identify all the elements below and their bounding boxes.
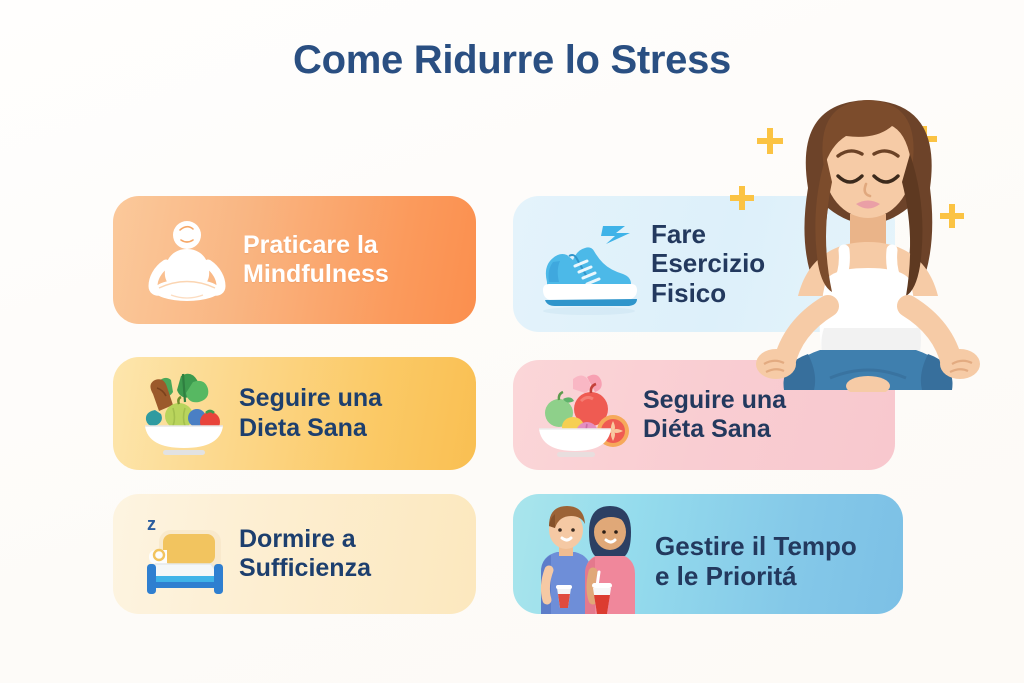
page-title: Come Ridurre lo Stress (0, 38, 1024, 83)
running-shoe-icon (529, 212, 647, 316)
sparkle-icon (940, 204, 964, 228)
sparkle-icon (911, 126, 937, 152)
card-mindfulness-label: Praticare la Mindfulness (243, 231, 389, 290)
infographic-canvas: Come Ridurre lo Stress Praticare la Mind… (0, 0, 1024, 683)
meditating-person-icon (133, 206, 241, 314)
card-time-label: Gestire il Tempo e le Prioritá (655, 531, 857, 592)
card-diet-left[interactable]: Seguire una Dieta Sana (113, 357, 476, 470)
vegetable-bowl-icon (131, 366, 235, 462)
card-exercise-label: Fare Esercizio Fisico (651, 220, 765, 309)
card-diet-right-label: Seguire una Diéta Sana (643, 386, 786, 445)
sparkle-icon (757, 128, 783, 154)
card-sleep-label: Dormire a Sufficienza (239, 525, 371, 584)
card-diet-left-label: Seguire una Dieta Sana (239, 384, 382, 443)
card-exercise[interactable]: Fare Esercizio Fisico (513, 196, 895, 332)
bed-sleep-icon: z (133, 508, 233, 600)
card-sleep[interactable]: z Dormire a Sufficienza (113, 494, 476, 614)
card-diet-right[interactable]: Seguire una Diéta Sana (513, 360, 895, 470)
card-time[interactable]: Gestire il Tempo e le Prioritá (513, 494, 903, 614)
card-mindfulness[interactable]: Praticare la Mindfulness (113, 196, 476, 324)
fruit-bowl-icon (529, 369, 639, 461)
svg-text:z: z (147, 514, 156, 534)
two-people-icon (523, 496, 653, 614)
